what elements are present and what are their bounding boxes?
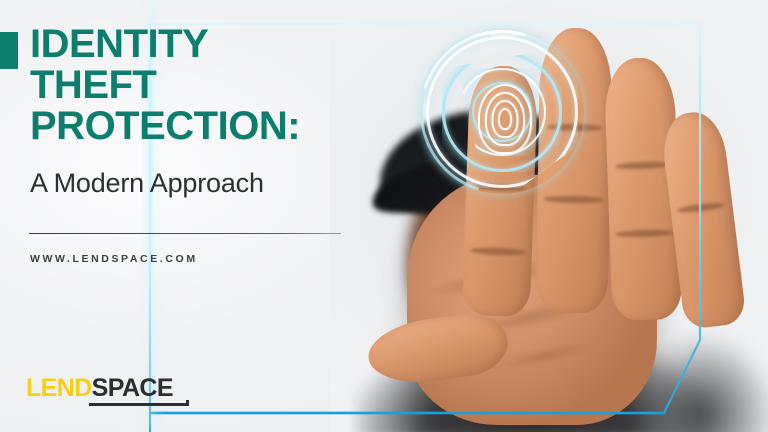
ring-finger <box>603 57 682 321</box>
lendspace-logo[interactable]: LENDSPACE <box>26 376 187 406</box>
fingerprint-glyph <box>474 80 536 158</box>
text-content: IDENTITY THEFT PROTECTION: A Modern Appr… <box>0 0 420 432</box>
subtitle: A Modern Approach <box>30 168 264 199</box>
knuckle-crease <box>676 201 724 214</box>
subject-mustache <box>455 292 533 316</box>
scanner-ring-2 <box>442 52 562 172</box>
palm-creases <box>401 189 664 432</box>
scanner-outer-arc <box>391 1 613 223</box>
middle-finger <box>536 27 613 313</box>
palm <box>407 175 657 425</box>
fingerprint-scanner-icon <box>418 28 588 198</box>
logo-lend-text: LEND <box>26 374 92 402</box>
divider <box>29 233 341 234</box>
pinky-finger <box>659 109 747 330</box>
subject-eye <box>443 218 487 240</box>
knuckle-crease <box>470 247 526 256</box>
knuckle-crease <box>543 195 603 203</box>
accent-bar <box>0 32 18 69</box>
website-url[interactable]: WWW.LENDSPACE.COM <box>30 253 198 265</box>
scanner-ring-3 <box>458 68 546 156</box>
logo-underline <box>89 403 187 406</box>
scanner-ring-1 <box>426 36 578 188</box>
knuckle-crease <box>474 183 526 192</box>
knuckle-crease <box>615 229 673 238</box>
identity-theft-protection-banner: IDENTITY THEFT PROTECTION: A Modern Appr… <box>0 0 768 432</box>
subject-shoulder-right <box>640 330 768 432</box>
scanner-ring-4 <box>472 82 532 142</box>
logo-space-text: SPACE <box>92 374 173 402</box>
knuckle-crease <box>547 124 603 132</box>
subject-head <box>408 148 588 363</box>
knuckle-crease <box>615 161 669 170</box>
headline-line-2: THEFT <box>30 65 410 106</box>
headline-line-3: PROTECTION: <box>30 106 410 147</box>
logo-wordmark: LENDSPACE <box>26 376 187 401</box>
page-title: IDENTITY THEFT PROTECTION: <box>30 24 410 148</box>
headline-line-1: IDENTITY <box>30 24 410 65</box>
subject-beard <box>420 285 578 375</box>
index-finger <box>462 65 539 317</box>
